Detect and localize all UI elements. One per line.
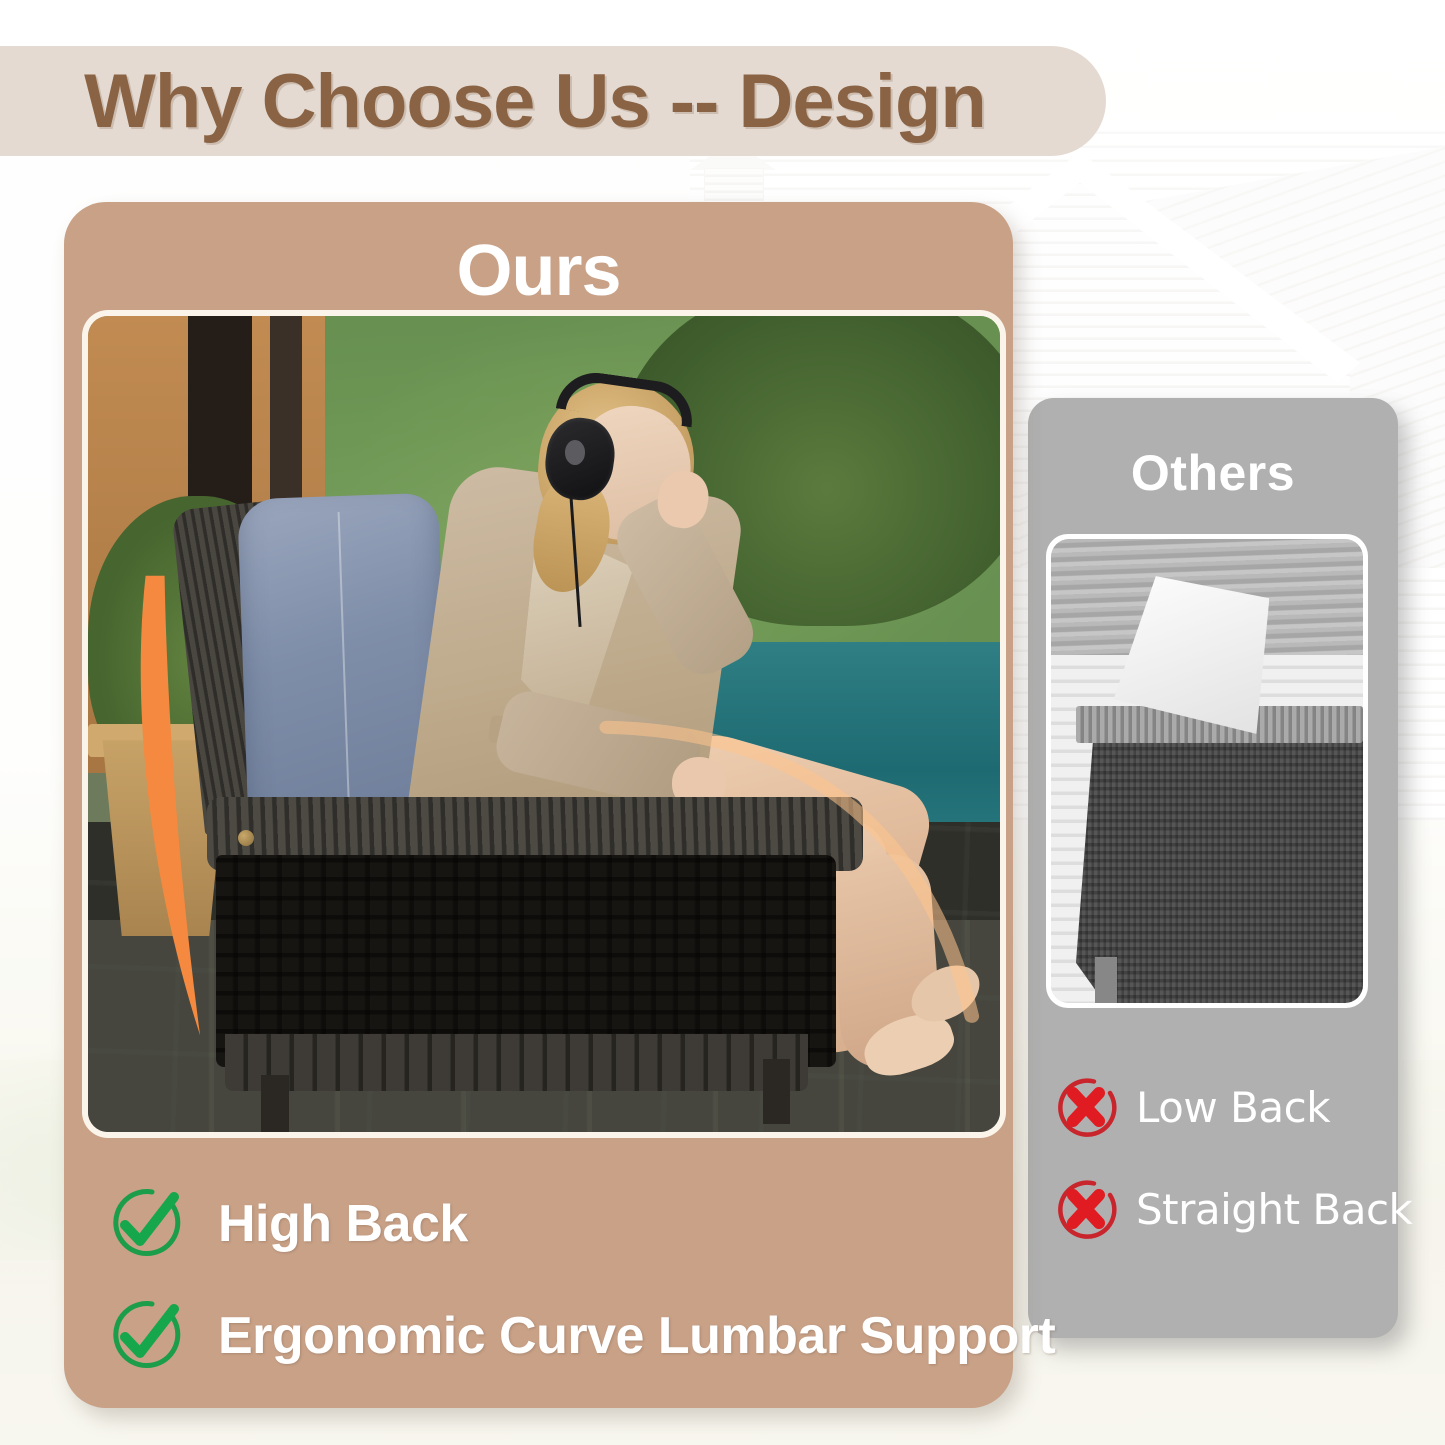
red-x-icon bbox=[1050, 1173, 1122, 1245]
list-item: Straight Back bbox=[1046, 1158, 1396, 1260]
list-item: Ergonomic Curve Lumbar Support bbox=[100, 1280, 980, 1392]
infographic-root: Why Choose Us -- Design Others Low Back bbox=[0, 0, 1445, 1445]
others-sofa-leg bbox=[1095, 957, 1117, 1003]
green-check-icon bbox=[100, 1294, 184, 1378]
others-product-photo bbox=[1051, 539, 1363, 1003]
page-title: Why Choose Us -- Design bbox=[0, 46, 1070, 156]
list-item-label: High Back bbox=[218, 1194, 468, 1254]
red-x-icon bbox=[1050, 1071, 1122, 1143]
others-sofa-body bbox=[1076, 715, 1363, 1003]
ours-product-photo bbox=[88, 316, 1000, 1132]
chair-leg-front bbox=[261, 1075, 288, 1132]
list-item-label: Straight Back bbox=[1136, 1185, 1412, 1234]
ours-product-photo-frame bbox=[82, 310, 1006, 1138]
chair-base-trim bbox=[225, 1034, 809, 1091]
others-drawback-list: Low Back Straight Back bbox=[1046, 1056, 1396, 1260]
list-item: High Back bbox=[100, 1168, 980, 1280]
others-product-photo-frame bbox=[1046, 534, 1368, 1008]
list-item-label: Low Back bbox=[1136, 1083, 1330, 1132]
others-panel-title: Others bbox=[1028, 444, 1398, 502]
chair-leg-back bbox=[763, 1059, 790, 1124]
ours-panel-title: Ours bbox=[64, 230, 1013, 312]
headphones-logo-icon bbox=[565, 440, 585, 464]
header-banner: Why Choose Us -- Design bbox=[0, 46, 1106, 156]
list-item: Low Back bbox=[1046, 1056, 1396, 1158]
green-check-icon bbox=[100, 1182, 184, 1266]
list-item-label: Ergonomic Curve Lumbar Support bbox=[218, 1306, 1055, 1366]
ours-feature-list: High Back Ergonomic Curve Lumbar Support bbox=[100, 1168, 980, 1392]
